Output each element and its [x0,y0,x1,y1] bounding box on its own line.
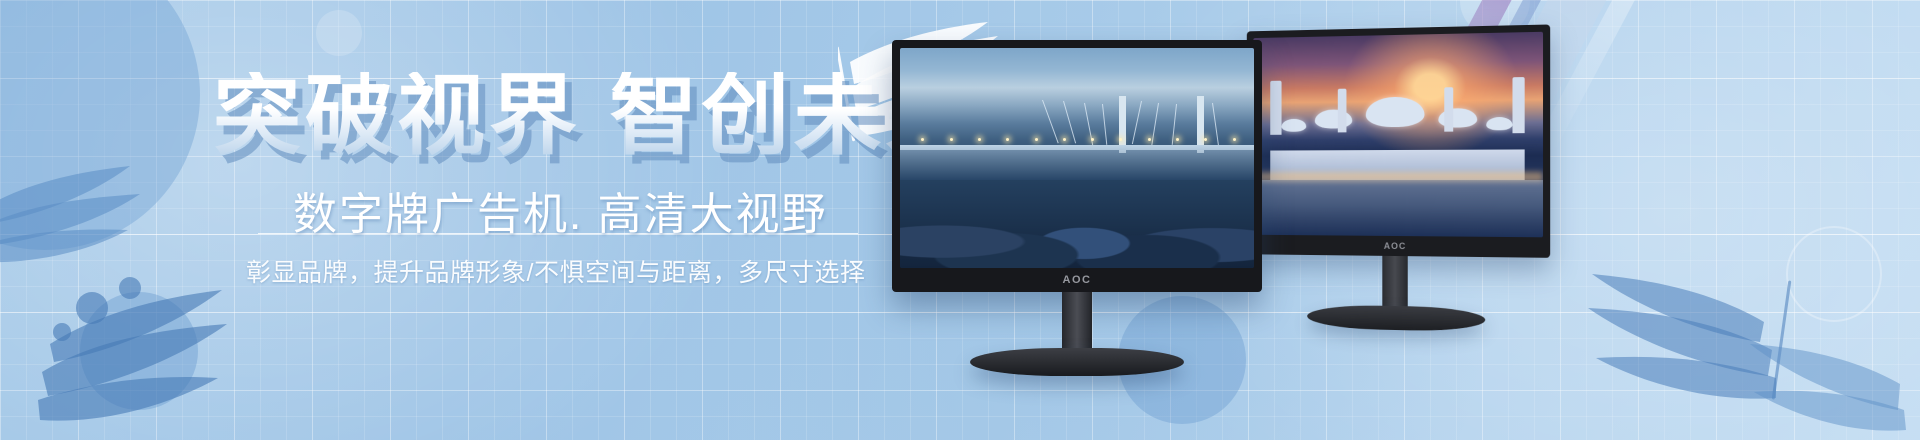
front-monitor-screen [900,48,1254,268]
back-monitor-panel: AOC [1247,24,1550,257]
page-title: 突破视界 智创未来 [213,72,977,160]
front-monitor-stand-base [970,348,1184,376]
banner-tagline: 彰显品牌，提升品牌形象/不惧空间与距离，多尺寸选择 [246,258,886,288]
product-monitors: AOC [880,0,1920,440]
promo-banner: 突破视界 智创未来 数字牌广告机. 高清大视野 彰显品牌，提升品牌形象/不惧空间… [0,0,1920,440]
back-monitor-stand-base [1307,304,1485,332]
banner-copy: 突破视界 智创未来 数字牌广告机. 高清大视野 彰显品牌，提升品牌形象/不惧空间… [0,0,940,440]
water-reflection [1253,180,1543,238]
banner-subtitle: 数字牌广告机. 高清大视野 [293,190,853,239]
aoc-logo-back: AOC [1384,241,1406,251]
back-monitor-screen [1253,32,1543,238]
mosque-photo-content [1253,89,1543,179]
back-monitor-stand-neck [1382,256,1407,308]
front-monitor: AOC [892,40,1262,350]
front-monitor-stand-neck [1062,292,1092,350]
aoc-logo-front: AOC [1063,274,1092,286]
front-monitor-panel: AOC [892,40,1262,292]
rocky-foreground [900,180,1254,268]
back-monitor: AOC [1247,24,1550,331]
water-surface [900,145,1254,180]
